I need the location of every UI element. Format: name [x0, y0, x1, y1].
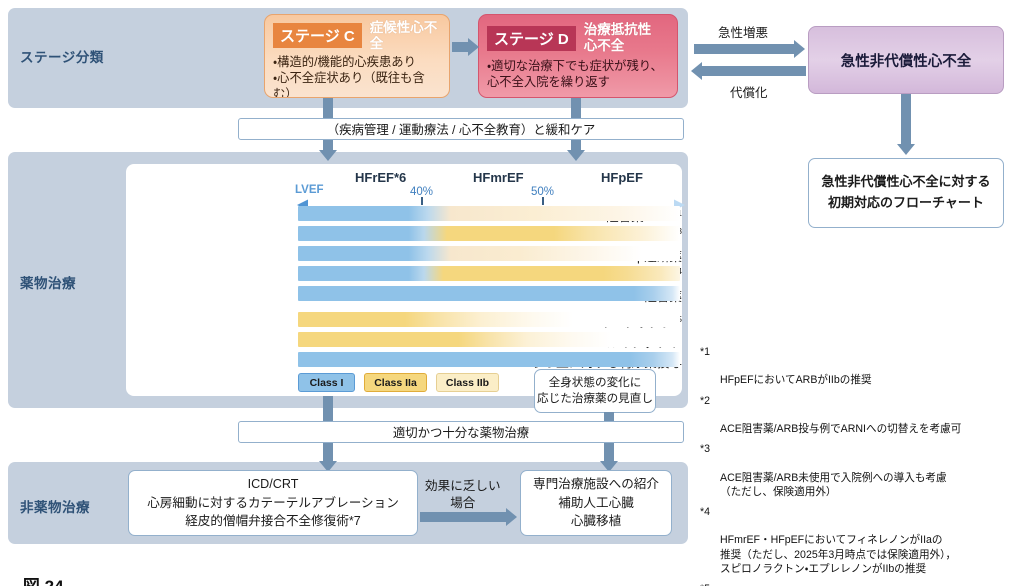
- drug-bar-vericiguat: [298, 332, 680, 347]
- insufficient-effect-label: 効果に乏しい 場合: [425, 478, 501, 512]
- nondrug-section-label: 非薬物治療: [20, 496, 90, 516]
- acute-initial-response-flowchart-box[interactable]: 急性非代償性心不全に対する 初期対応のフローチャート: [808, 158, 1004, 228]
- arrow-d-down-to-palliative: [571, 98, 581, 118]
- legend-class-2a[interactable]: Class IIa: [364, 373, 427, 392]
- footnote-1-text: HFpEFにおいてARBがIIbの推奨: [720, 374, 872, 386]
- optimal-drug-therapy-box[interactable]: 適切かつ十分な薬物治療: [238, 421, 684, 443]
- figure-caption: 図 24 心不全治療のアルゴリズム: [4, 552, 240, 586]
- legend-class-1-label: Class I: [310, 377, 344, 389]
- drug-bar-ivabradine: [298, 312, 680, 327]
- drug-therapy-panel: LVEF HFrEF*6 HFmrEF HFpEF 40% 50% ACE 阻害…: [126, 164, 682, 396]
- nondrug-left-line1: ICD/CRT: [248, 475, 299, 494]
- arrow-acute-worsening-head: [794, 40, 805, 58]
- stage-d-heading: 治療抵抗性 心不全: [584, 20, 652, 53]
- arrow-acute-down-head: [897, 144, 915, 155]
- arrow-compensation-shaft: [702, 66, 806, 76]
- stage-c-bullets: ・構造的/機能的心疾患あり ・心不全症状あり（既往も含む）: [265, 53, 449, 98]
- nondrug-right-line3: 心臓移植: [571, 512, 621, 531]
- drug-bar-mra: [298, 266, 680, 281]
- drug-section-label: 薬物治療: [20, 272, 76, 292]
- acute-decompensated-hf-box[interactable]: 急性非代償性心不全: [808, 26, 1004, 94]
- treatment-review-box[interactable]: 全身状態の変化に 応じた治療薬の見直し: [534, 369, 656, 413]
- footnote-5-mark: *5: [700, 582, 710, 586]
- drug-bar-diuretics: [298, 352, 680, 367]
- arrow-palliative-down-left-head: [319, 150, 337, 161]
- treatment-review-label: 全身状態の変化に 応じた治療薬の見直し: [537, 375, 653, 407]
- stage-d-header: ステージ D 治療抵抗性 心不全: [479, 15, 677, 55]
- arrow-acute-worsening-shaft: [694, 44, 794, 54]
- ef-tick-40: [421, 197, 423, 205]
- acute-worsening-label: 急性増悪: [718, 22, 768, 41]
- footnote-2-text: ACE阻害薬/ARB投与例でARNIへの切替えを考慮可: [720, 423, 961, 435]
- drug-bar-ace-arb: [298, 206, 680, 221]
- nondrug-right-box[interactable]: 専門治療施設への紹介 補助人工心臓 心臓移植: [520, 470, 672, 536]
- figure-root: ステージ分類 薬物治療 非薬物治療 ステージ C 症候性心不全 ・構造的/機能的…: [0, 0, 1024, 586]
- palliative-care-label: （疾病管理 / 運動療法 / 心不全教育）と緩和ケア: [327, 120, 595, 138]
- arrow-compensation-head: [691, 62, 702, 80]
- arrow-acute-down-shaft: [901, 94, 911, 144]
- palliative-care-box[interactable]: （疾病管理 / 運動療法 / 心不全教育）と緩和ケア: [238, 118, 684, 140]
- stage-c-heading: 症候性心不全: [370, 20, 441, 51]
- compensation-label: 代償化: [730, 82, 768, 101]
- footnote-1-mark: *1: [700, 345, 710, 359]
- stage-d-bullets: ・適切な治療下でも症状が残り、 心不全入院を繰り返す: [479, 55, 677, 96]
- legend-class-2a-label: Class IIa: [374, 377, 417, 389]
- drug-bar-arni: [298, 226, 680, 241]
- footnote-5: *5 洞調律で心拍数≧75bpm: [700, 582, 1024, 586]
- stage-c-box[interactable]: ステージ C 症候性心不全 ・構造的/機能的心疾患あり ・心不全症状あり（既往も…: [264, 14, 450, 98]
- ef-group-hfref: HFrEF*6: [355, 170, 406, 185]
- ef-tick-50: [542, 197, 544, 205]
- nondrug-left-line2: 心房細動に対するカテーテルアブレーション: [147, 494, 399, 513]
- ef-group-hfmref: HFmrEF: [473, 170, 524, 185]
- stage-d-chip: ステージ D: [487, 26, 576, 51]
- footnote-3: *3 ACE阻害薬/ARB未使用で入院例への導入も考慮 （ただし、保険適用外）: [700, 442, 1024, 498]
- footnote-1: *1 HFpEFにおいてARBがIIbの推奨: [700, 345, 1024, 387]
- arrow-c-to-d-shaft: [452, 42, 468, 52]
- footnote-3-mark: *3: [700, 442, 710, 456]
- nondrug-left-box[interactable]: ICD/CRT 心房細動に対するカテーテルアブレーション 経皮的僧帽弁接合不全修…: [128, 470, 418, 536]
- legend-class-2b-label: Class IIb: [446, 377, 489, 389]
- lvef-axis-label: LVEF: [295, 184, 324, 196]
- acute-decompensated-hf-label: 急性非代償性心不全: [841, 50, 972, 71]
- figure-caption-number: 図 24: [23, 577, 64, 586]
- drug-bar-sglt2: [298, 286, 680, 301]
- arrow-nondrug-right-shaft: [420, 512, 506, 522]
- footnote-4-text: HFmrEF・HFpEFにおいてフィネレノンがIIaの 推奨（ただし、2025年…: [720, 534, 956, 574]
- optimal-drug-therapy-label: 適切かつ十分な薬物治療: [393, 423, 529, 441]
- stage-c-header: ステージ C 症候性心不全: [265, 15, 449, 53]
- arrow-optimal-down-left-shaft: [323, 443, 333, 461]
- ef-group-hfpef: HFpEF: [601, 170, 643, 185]
- stage-d-box[interactable]: ステージ D 治療抵抗性 心不全 ・適切な治療下でも症状が残り、 心不全入院を繰…: [478, 14, 678, 98]
- nondrug-right-line1: 専門治療施設への紹介: [533, 475, 659, 494]
- arrow-c-down-to-palliative: [323, 98, 333, 118]
- drug-bar-beta-blocker: [298, 246, 680, 261]
- footnote-2-mark: *2: [700, 394, 710, 408]
- legend-class-1[interactable]: Class I: [298, 373, 355, 392]
- footnote-4: *4 HFmrEF・HFpEFにおいてフィネレノンがIIaの 推奨（ただし、20…: [700, 505, 1024, 575]
- legend-class-2b[interactable]: Class IIb: [436, 373, 499, 392]
- arrow-drug-down-to-optimal: [323, 396, 333, 421]
- footnote-3-text: ACE阻害薬/ARB未使用で入院例への導入も考慮 （ただし、保険適用外）: [720, 472, 947, 498]
- stage-c-chip: ステージ C: [273, 23, 362, 48]
- footnotes-list: *1 HFpEFにおいてARBがIIbの推奨 *2 ACE阻害薬/ARB投与例で…: [700, 345, 1024, 586]
- footnote-2: *2 ACE阻害薬/ARB投与例でARNIへの切替えを考慮可: [700, 394, 1024, 436]
- nondrug-left-line3: 経皮的僧帽弁接合不全修復術*7: [185, 512, 361, 531]
- acute-initial-response-flowchart-label: 急性非代償性心不全に対する 初期対応のフローチャート: [821, 172, 990, 214]
- arrow-review-down-to-optimal: [604, 412, 614, 421]
- arrow-palliative-down-right-head: [567, 150, 585, 161]
- arrow-c-to-d-head: [468, 38, 479, 56]
- footnote-4-mark: *4: [700, 505, 710, 519]
- arrow-optimal-down-right-shaft: [604, 443, 614, 461]
- nondrug-right-line2: 補助人工心臓: [558, 494, 634, 513]
- stage-section-label: ステージ分類: [20, 46, 104, 66]
- arrow-nondrug-right-head: [506, 508, 517, 526]
